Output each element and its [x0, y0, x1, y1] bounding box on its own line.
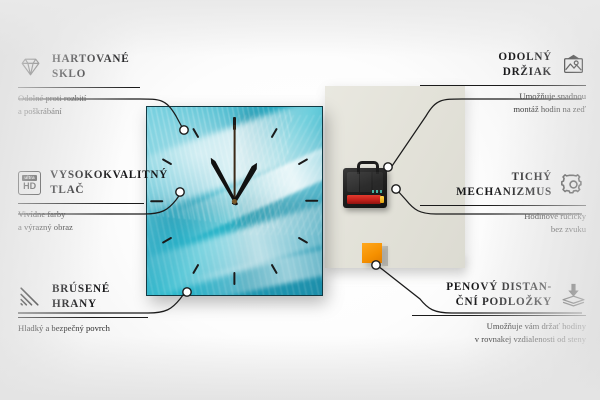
feature-high-quality-print[interactable]: ultra HD VYSOKOKVALITNÝ TLAČ Vivídne far…: [18, 168, 168, 234]
feature-title-line: PENOVÝ DISTAN-: [446, 280, 552, 295]
clock-tick: [270, 128, 277, 139]
divider: [18, 203, 144, 204]
foam-spacer-arrow-icon: [561, 282, 586, 307]
foam-spacer-pad: [362, 243, 382, 263]
feature-silent-mechanism[interactable]: TICHÝ MECHANIZMUS Hodinové ručičky bez z…: [420, 170, 586, 236]
feature-title-line: TICHÝ: [456, 170, 552, 185]
feature-body-line: Umožňuje vám držať hodiny: [412, 320, 586, 333]
clock-tick: [161, 237, 172, 244]
feature-title-line: ODOLNÝ: [498, 50, 552, 65]
battery: [347, 195, 381, 204]
feature-title-line: VYSOKOKVALITNÝ: [50, 168, 168, 183]
divider: [420, 85, 586, 86]
diamond-icon: [18, 54, 43, 79]
clock-tick: [270, 264, 277, 275]
feature-body-line: Vivídne farby: [18, 208, 168, 221]
divider: [18, 317, 148, 318]
wall-clock-face: [146, 106, 323, 296]
wall-mount-picture-icon: [561, 52, 586, 77]
feature-body-line: a výrazný obraz: [18, 221, 168, 234]
clock-center-pin: [232, 199, 237, 204]
clock-second-hand: [234, 125, 236, 201]
ultra-hd-icon-main-text: HD: [23, 182, 36, 191]
clock-tick: [233, 272, 235, 285]
clock-tick: [306, 200, 319, 202]
feature-title-line: HRANY: [52, 297, 110, 312]
feature-title-line: MECHANIZMUS: [456, 185, 552, 200]
divider: [420, 205, 586, 206]
feature-body-line: Hladký a bezpečný povrch: [18, 322, 168, 335]
clock-tick: [297, 237, 308, 244]
feature-body-line: Hodinové ručičky: [420, 210, 586, 223]
feature-foam-spacers[interactable]: PENOVÝ DISTAN- ČNÍ PODLOŽKY Umožňuje vám…: [412, 280, 586, 346]
feature-durable-holder[interactable]: ODOLNÝ DRŽIAK Umožňuje snadnou montáž ho…: [420, 50, 586, 116]
ultra-hd-icon-top-text: ultra: [22, 175, 37, 181]
ultra-hd-icon: ultra HD: [18, 171, 41, 195]
feature-beveled-edges[interactable]: BRÚSENÉ HRANY Hladký a bezpečný povrch: [18, 282, 168, 335]
feature-tempered-glass[interactable]: HARTOVANÉ SKLO Odolné proti rozbití a po…: [18, 52, 168, 118]
feature-title-line: HARTOVANÉ: [52, 52, 129, 67]
feature-body-line: Umožňuje snadnou: [420, 90, 586, 103]
infographic-canvas: HARTOVANÉ SKLO Odolné proti rozbití a po…: [0, 0, 600, 400]
divider: [412, 315, 586, 316]
feature-body-line: v rovnakej vzdialenosti od steny: [412, 333, 586, 346]
clock-tick: [192, 264, 199, 275]
feature-body-line: montáž hodin na zeď: [420, 103, 586, 116]
feature-title-line: ČNÍ PODLOŽKY: [446, 295, 552, 310]
feature-body-line: Odolné proti rozbití: [18, 92, 168, 105]
feature-body-line: bez zvuku: [420, 223, 586, 236]
clock-tick: [297, 158, 308, 165]
clock-tick: [192, 128, 199, 139]
divider: [18, 87, 140, 88]
feature-body-line: a poškrábání: [18, 105, 168, 118]
foam-pad-side: [382, 246, 388, 266]
feature-title-line: DRŽIAK: [498, 65, 552, 80]
gear-icon: [561, 172, 586, 197]
clock-tick: [161, 158, 172, 165]
feature-title-line: TLAČ: [50, 183, 168, 198]
feature-title-line: SKLO: [52, 67, 129, 82]
beveled-edges-icon: [18, 284, 43, 309]
feature-title-line: BRÚSENÉ: [52, 282, 110, 297]
clock-mechanism: [343, 168, 387, 208]
